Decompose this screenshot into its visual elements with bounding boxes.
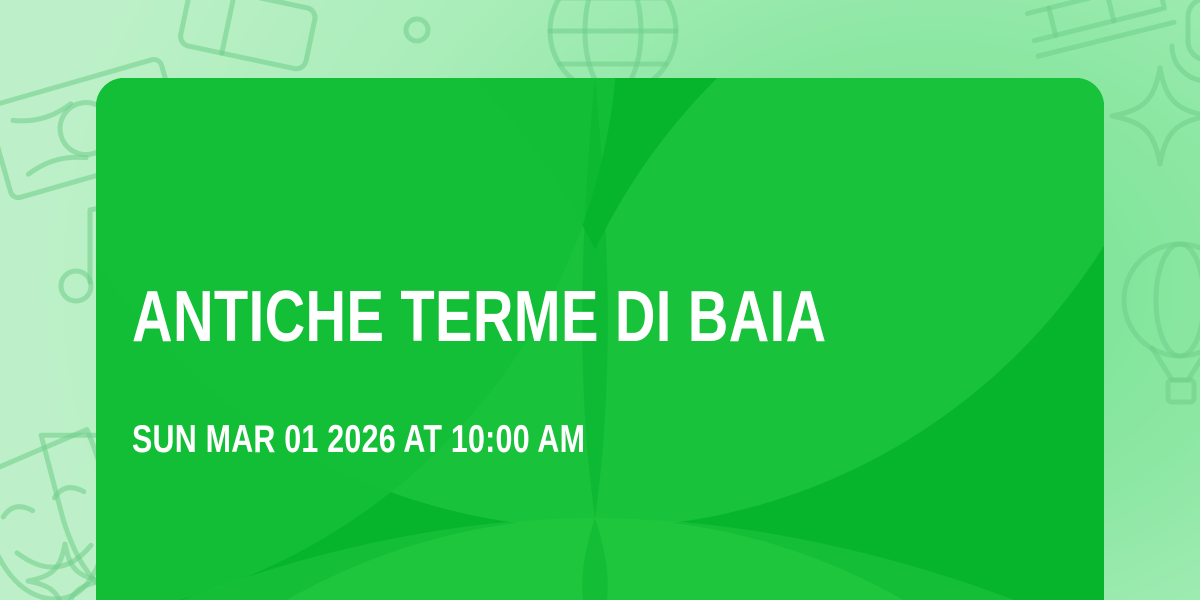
event-title: ANTICHE TERME DI BAIA	[132, 278, 827, 356]
hot-air-balloon-icon	[1118, 232, 1200, 422]
event-card[interactable]: ANTICHE TERME DI BAIA SUN MAR 01 2026 AT…	[96, 78, 1104, 600]
sparkle-icon	[1100, 56, 1200, 176]
map-pin-icon	[392, 10, 442, 70]
card-text-block: ANTICHE TERME DI BAIA SUN MAR 01 2026 AT…	[132, 78, 1072, 600]
event-datetime: SUN MAR 01 2026 AT 10:00 AM	[132, 418, 585, 462]
ticket-icon	[168, 0, 328, 86]
event-card-screen: ANTICHE TERME DI BAIA SUN MAR 01 2026 AT…	[0, 0, 1200, 600]
